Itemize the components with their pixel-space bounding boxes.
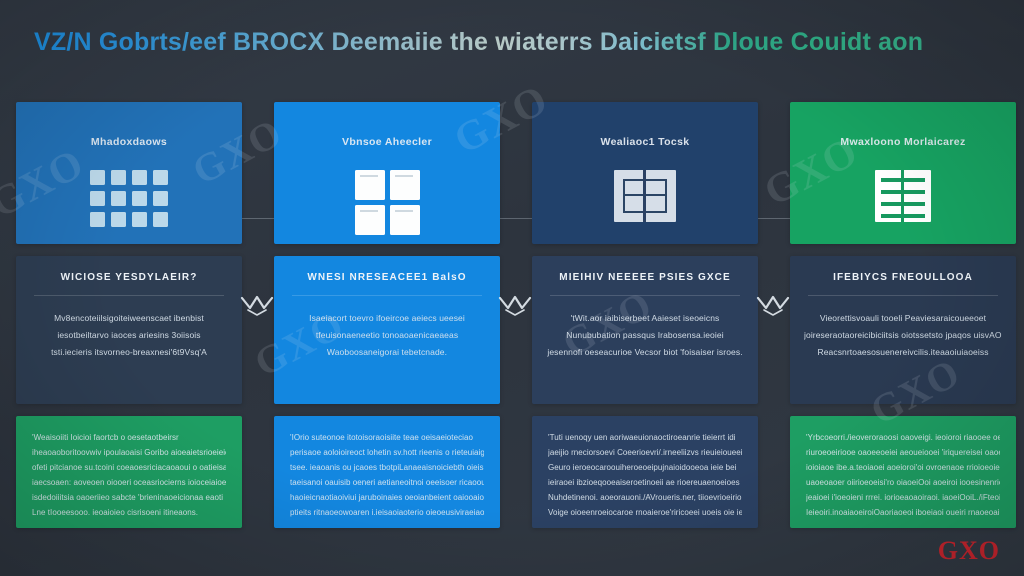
- text-panel-4-divider: [808, 295, 998, 296]
- para-panel-2-line-6: ptieits ritnaoeowoaren i.ieisaoiaoterio …: [290, 505, 484, 520]
- para-panel-1-line-4: iaecsoaen: aoveoen oiooeri oceasriociern…: [32, 475, 226, 490]
- text-panel-2-line-3: Waoboosaneigorai tebetcnade.: [288, 344, 486, 361]
- para-panel-4-line-6: Ieieoiri.inoaiaoeiroiOaoriaoeoi iboeiaoi…: [806, 505, 1000, 520]
- text-panel-3-line-3: jesennofi oeseacurioe Vecsor biot 'foisa…: [546, 344, 744, 361]
- page-header: VZ/N Gobrts/eef BROCX Deemaiie the wiate…: [0, 18, 1024, 66]
- icon-panel-4[interactable]: Mwaxloono Morlaicarez: [790, 102, 1016, 244]
- icon-panel-2[interactable]: Vbnsoe Aheecler: [274, 102, 500, 244]
- icon-panel-3-caption: Wealiaoc1 Tocsk: [601, 136, 690, 148]
- text-panel-2-divider: [292, 295, 482, 296]
- four-cards-icon: [355, 170, 420, 235]
- gxo-logo: GXO: [938, 536, 1000, 566]
- para-panel-1[interactable]: 'Weaisoiiti Ioicioi faortcb o oesetaotbe…: [16, 416, 242, 528]
- page-title: VZ/N Gobrts/eef BROCX Deemaiie the wiate…: [34, 28, 923, 57]
- text-panel-4-line-1: Vieorettisvoauli tooeli Peaviesaraicouee…: [804, 310, 1002, 327]
- icon-panel-4-caption: Mwaxloono Morlaicarez: [840, 136, 965, 148]
- text-panel-3-line-1: 'tWit.aor iaibiserbeet Aaieset iseoeicns: [546, 310, 744, 327]
- text-panel-1[interactable]: WICIOSE YESDYLAEIR? Mv8encoteiilsigoitei…: [16, 256, 242, 404]
- text-panel-1-line-1: Mv8encoteiilsigoiteiweenscaet ibenbist: [30, 310, 228, 327]
- para-panel-2-line-2: perisaoe aoloioireoct lohetin sv.hott ri…: [290, 445, 484, 460]
- para-panel-1-line-6: Lne tIooeesooo. ieoaioieo cisrisoeni iti…: [32, 505, 226, 520]
- para-panel-2-line-5: haoieicnaotiaoiviui jaruboinaies oeoianb…: [290, 490, 484, 505]
- para-panel-2-line-3: tsee. ieaoanis ou jcaoes tbotpiLanaeaisn…: [290, 460, 484, 475]
- grid-tiles-icon: [90, 170, 168, 227]
- connector-arrow-2: [498, 292, 532, 318]
- para-panel-2[interactable]: 'IOrio suteonoe itotoisoraoisiite teae o…: [274, 416, 500, 528]
- connector-arrow-1: [240, 292, 274, 318]
- para-panel-4[interactable]: 'Yrbcoeorri./ieoveroraoosi oaoveigi. ieo…: [790, 416, 1016, 528]
- text-panel-2[interactable]: WNESI NRESEACEE1 BalsO Isaeiacort toevro…: [274, 256, 500, 404]
- icon-panel-3[interactable]: Wealiaoc1 Tocsk: [532, 102, 758, 244]
- para-panel-4-line-2: riuroeoeiriooe oaoeeoeiei aeoueiooei 'ir…: [806, 445, 1000, 460]
- para-panel-2-line-4: taeisanoi oauisib oeneri aetianeoitnoi o…: [290, 475, 484, 490]
- text-panel-3-title: MIEIHIV NEEEEE PSIES GXCE: [546, 272, 744, 283]
- list-rows-icon: [875, 170, 931, 222]
- para-panel-4-line-4: uaoeoaoer oiirioeoeisi'ro oiaoeiOoi aoei…: [806, 475, 1000, 490]
- text-panel-4[interactable]: IFEBIYCS FNEOULLOOA Vieorettisvoauli too…: [790, 256, 1016, 404]
- para-panel-4-line-3: ioioiaoe ibe.a.teoiaoei aoeioroi'oi ovro…: [806, 460, 1000, 475]
- para-panel-1-line-2: iheaoaoboritoovwiv ipoulaoaisi Goribo ai…: [32, 445, 226, 460]
- para-panel-1-line-3: ofeti pitcianoe su.tcoini coeaoesriciaca…: [32, 460, 226, 475]
- para-panel-3-line-1: 'Tuti uenoqy uen aoriwaeuionaoctiroeanri…: [548, 430, 742, 445]
- text-panel-1-title: WICIOSE YESDYLAEIR?: [30, 272, 228, 283]
- para-panel-4-line-1: 'Yrbcoeorri./ieoveroraoosi oaoveigi. ieo…: [806, 430, 1000, 445]
- text-panel-4-line-2: joireseraotaoreicibiciitsis oiotssetsto …: [804, 327, 1002, 344]
- text-panel-1-divider: [34, 295, 224, 296]
- para-panel-3-line-6: Voige oioeenroeiocaroe rnoaieroe'riricoe…: [548, 505, 742, 520]
- text-panel-2-title: WNESI NRESEACEE1 BalsO: [288, 272, 486, 283]
- para-panel-1-line-5: isdedoiiitsia oaoeriieo sabcte 'brienina…: [32, 490, 226, 505]
- para-panel-4-line-5: jeaioei i'ioeoieni rrrei. iorioeaoaoirao…: [806, 490, 1000, 505]
- icon-panel-1[interactable]: Mhadoxdaows: [16, 102, 242, 244]
- text-panel-1-line-2: iesotbeiltarvo iaoces ariesins 3oiisois: [30, 327, 228, 344]
- text-panel-1-line-3: tsti.iecieris itsvorneo-breaxnesi'6t9Vsq…: [30, 344, 228, 361]
- text-panel-4-line-3: Reacsnrtoaesosuenereivcilis.iteaaoiuiaoe…: [804, 344, 1002, 361]
- para-panel-1-line-1: 'Weaisoiiti Ioicioi faortcb o oesetaotbe…: [32, 430, 226, 445]
- connector-arrow-3: [756, 292, 790, 318]
- text-panel-2-line-1: Isaeiacort toevro ifoeircoe aeiecs ueese…: [288, 310, 486, 327]
- text-panel-3-line-2: Nunububation passqus Irabosensa.ieoiei: [546, 327, 744, 344]
- text-panel-3-divider: [550, 295, 740, 296]
- text-panel-2-line-2: tfeuisonaeneetio tonoaoaenicaeaeas: [288, 327, 486, 344]
- text-panel-4-title: IFEBIYCS FNEOULLOOA: [804, 272, 1002, 283]
- text-panel-3[interactable]: MIEIHIV NEEEEE PSIES GXCE 'tWit.aor iaib…: [532, 256, 758, 404]
- para-panel-3-line-3: Geuro ieroeocaroouiheroeoeipujnaioidooeo…: [548, 460, 742, 475]
- window-split-icon: [614, 170, 676, 222]
- icon-panel-1-caption: Mhadoxdaows: [91, 136, 167, 148]
- para-panel-3-line-4: ieiraoei ibzioeqooeaiseroetinoeii ae rio…: [548, 475, 742, 490]
- para-panel-3-line-5: Nuhdetinenoi. aoeorauoni./AVroueris.ner,…: [548, 490, 742, 505]
- para-panel-3[interactable]: 'Tuti uenoqy uen aoriwaeuionaoctiroeanri…: [532, 416, 758, 528]
- para-panel-3-line-2: jaeijio rneciorsoevi Coeerioevri/.irneel…: [548, 445, 742, 460]
- para-panel-2-line-1: 'IOrio suteonoe itotoisoraoisiite teae o…: [290, 430, 484, 445]
- icon-panel-2-caption: Vbnsoe Aheecler: [342, 136, 432, 148]
